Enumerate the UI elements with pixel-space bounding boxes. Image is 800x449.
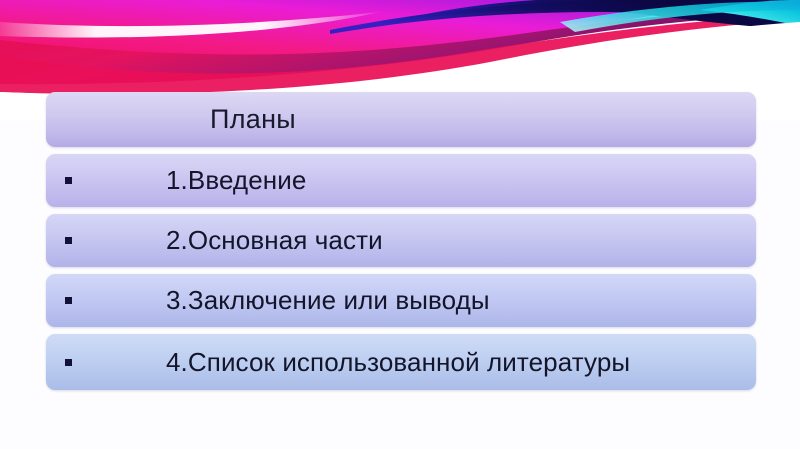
page-title: Планы xyxy=(46,104,756,135)
slide-canvas: Планы 1.Введение 2.Основная части 3.Закл… xyxy=(0,0,800,449)
list-item[interactable]: 2.Основная части xyxy=(46,214,756,267)
content-list: Планы 1.Введение 2.Основная части 3.Закл… xyxy=(46,92,756,397)
list-item[interactable]: 3.Заключение или выводы xyxy=(46,274,756,327)
bullet-icon xyxy=(46,359,166,366)
ribbon-band-navy xyxy=(380,0,800,30)
ribbon-band-cyan-2 xyxy=(560,2,800,32)
ribbon-band-navy-2 xyxy=(330,0,800,34)
list-item[interactable]: 1.Введение xyxy=(46,154,756,207)
slide-title-bar: Планы xyxy=(46,92,756,147)
list-item-label: 4.Список использованной литературы xyxy=(166,347,630,378)
bullet-icon xyxy=(46,237,166,244)
list-item-label: 2.Основная части xyxy=(166,225,383,256)
list-item-label: 1.Введение xyxy=(166,165,306,196)
ribbon-band-crimson xyxy=(0,14,800,94)
ribbon-band-magenta xyxy=(0,0,800,65)
ribbon-highlight-streak xyxy=(0,12,380,38)
bullet-icon xyxy=(46,297,166,304)
ribbon-band-pink xyxy=(0,8,800,84)
ribbon-band-cyan xyxy=(700,0,800,26)
list-item[interactable]: 4.Список использованной литературы xyxy=(46,334,756,390)
bullet-icon xyxy=(46,177,166,184)
list-item-label: 3.Заключение или выводы xyxy=(166,285,490,316)
